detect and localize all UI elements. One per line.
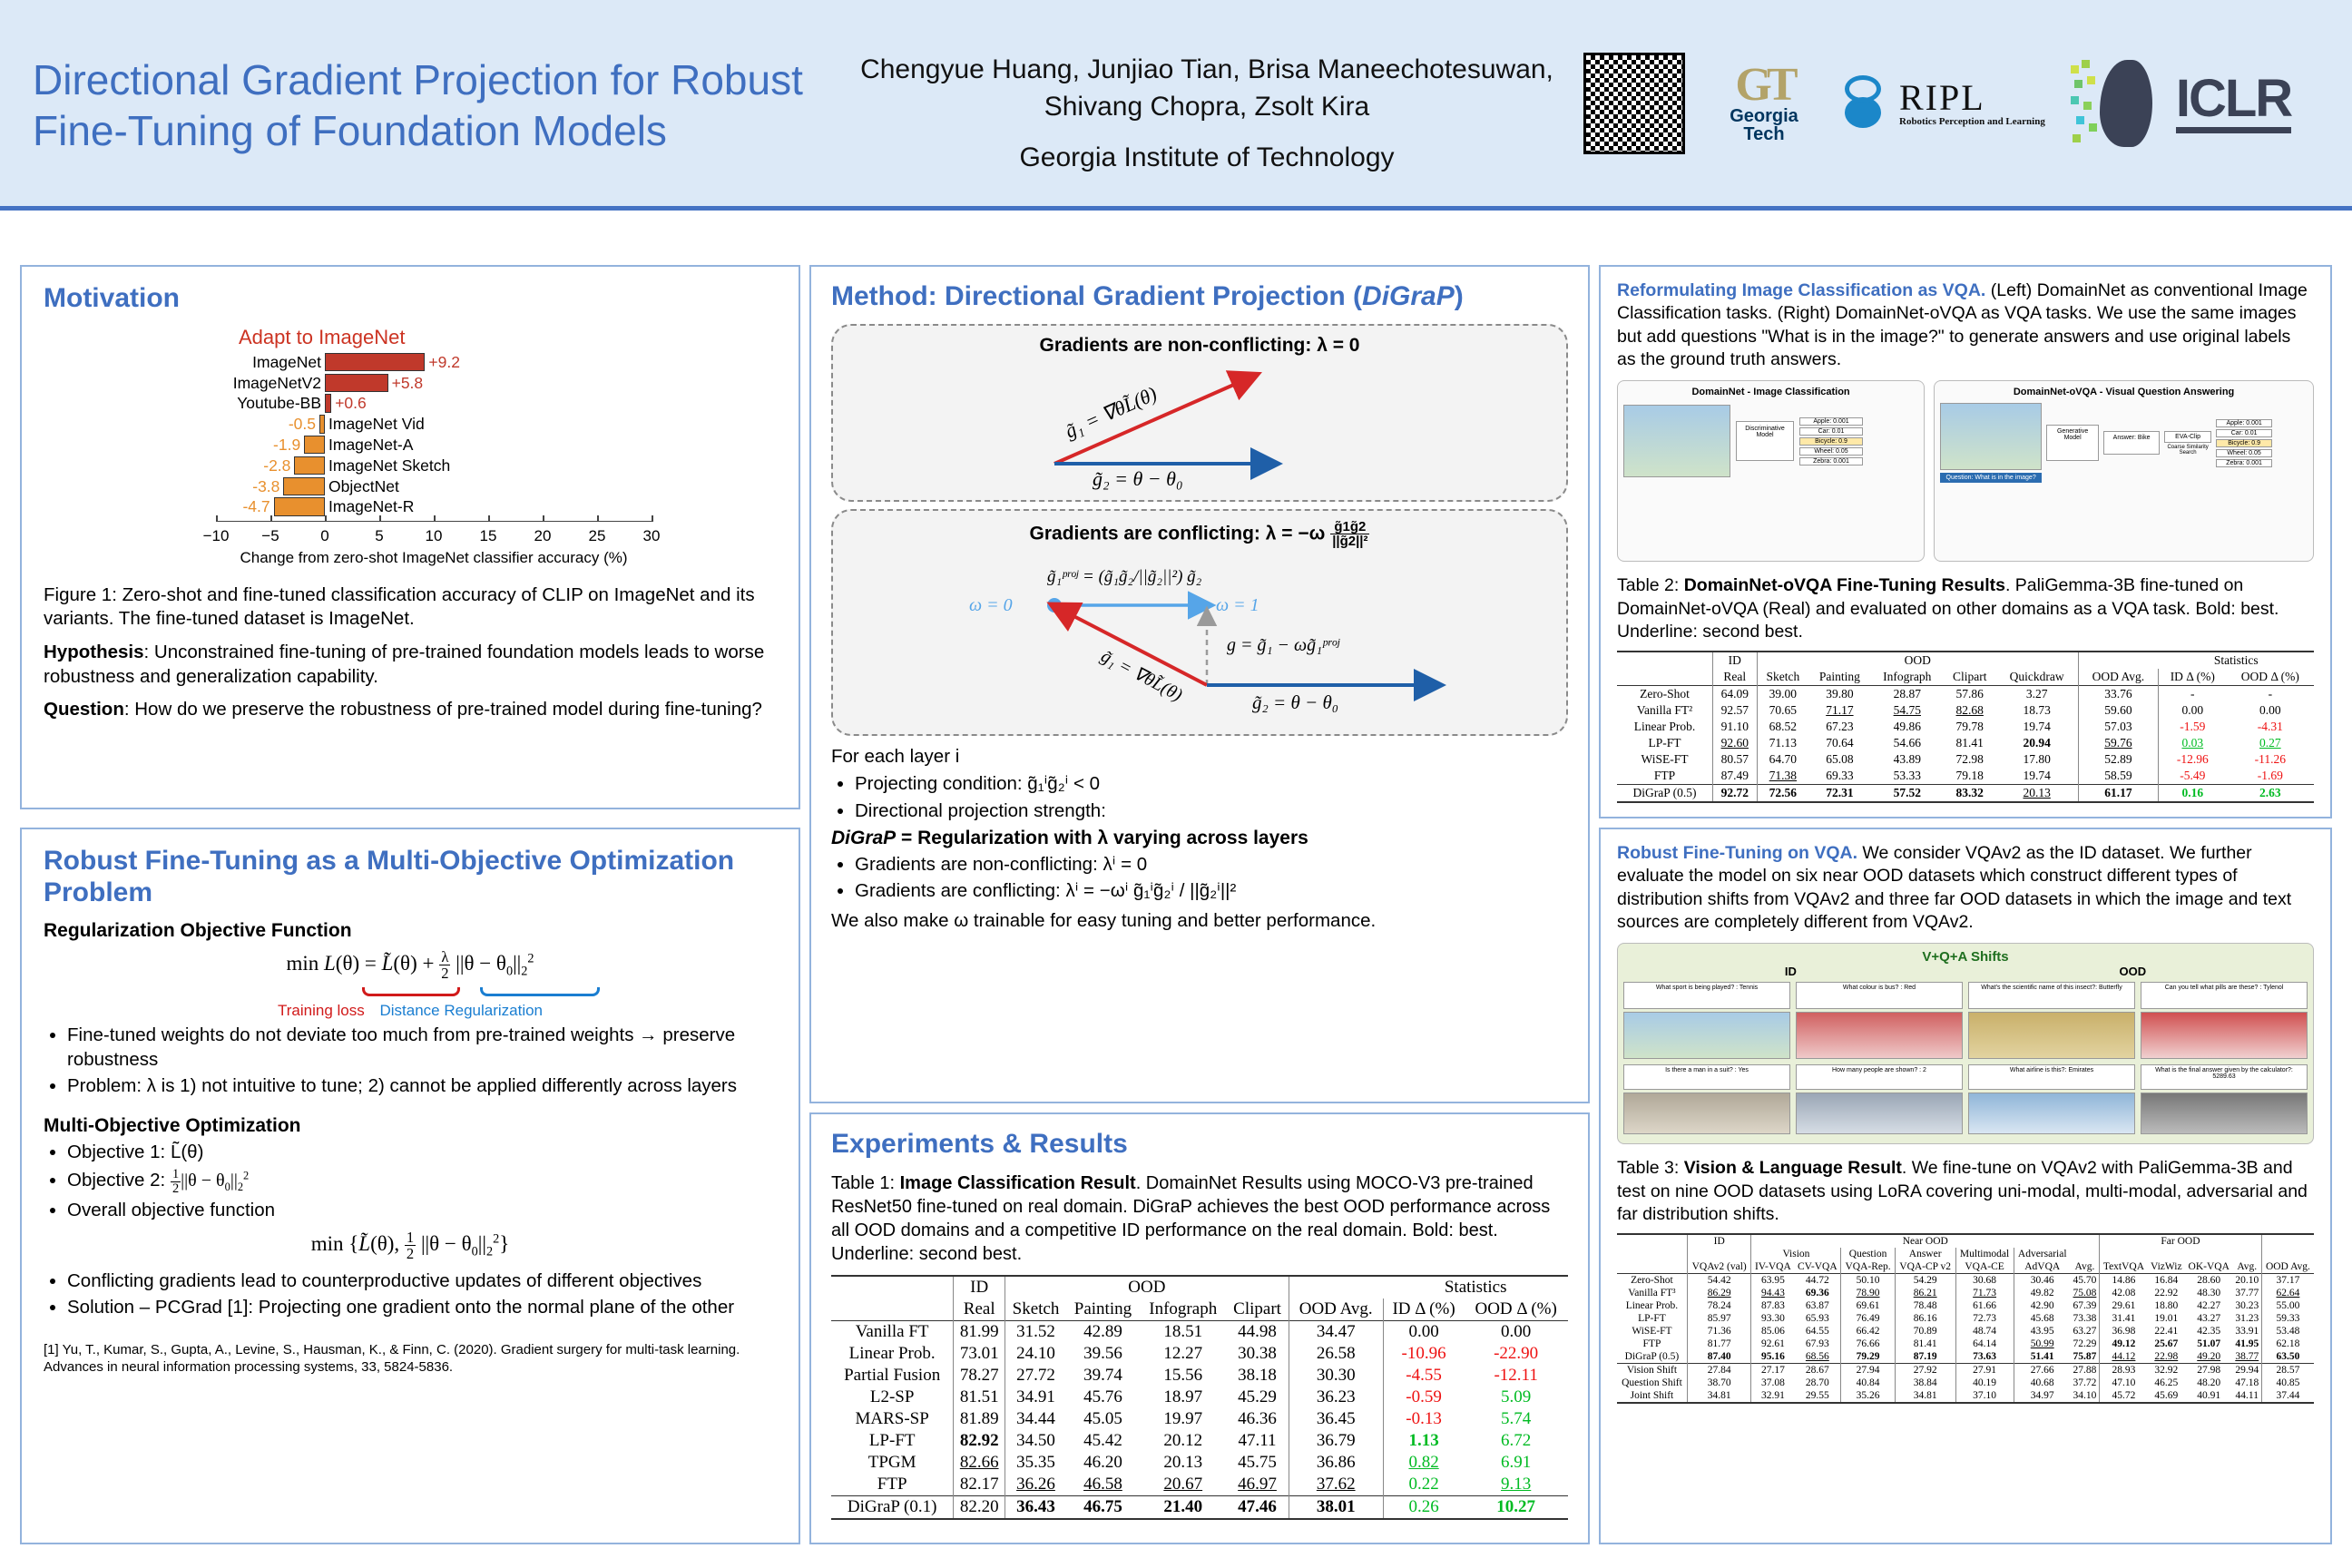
table-cell: 50.10 xyxy=(1841,1274,1895,1288)
table-cell-value: 64.09 xyxy=(1721,687,1749,701)
for-each-layer-text: For each layer i xyxy=(831,745,1568,769)
svg-text:g̃₁ = ∇θL̃(θ): g̃₁ = ∇θL̃(θ) xyxy=(1098,645,1187,706)
table-cell: 72.29 xyxy=(2071,1338,2100,1350)
method-heading: Method: Directional Gradient Projection … xyxy=(831,281,1568,313)
table-cell-value: 38.77 xyxy=(2235,1351,2259,1362)
table-cell-value: 20.13 xyxy=(1163,1453,1202,1472)
table-cell: 22.92 xyxy=(2148,1287,2185,1299)
svg-text:g̃₂ = θ − θ₀: g̃₂ = θ − θ₀ xyxy=(1252,691,1338,713)
method-heading-prefix: Method: Directional Gradient Projection … xyxy=(831,281,1362,311)
table-cell-value: 0.00 xyxy=(2181,703,2203,717)
table-cell: 45.29 xyxy=(1226,1387,1289,1408)
shift-card: Can you tell what pills are these? : Tyl… xyxy=(2141,982,2308,1059)
table1-caption-pre: Table 1: xyxy=(831,1173,900,1193)
table-cell: -12.96 xyxy=(2158,751,2226,768)
left-fig-title: DomainNet - Image Classification xyxy=(1623,387,1918,397)
table-cell: 72.56 xyxy=(1757,785,1808,803)
table-cell: 48.74 xyxy=(1955,1325,2014,1338)
table-cell-value: 34.50 xyxy=(1016,1431,1055,1450)
table-cell: 42.27 xyxy=(2185,1299,2233,1312)
table-cell: 44.12 xyxy=(2100,1350,2148,1364)
table-cell-value: -12.96 xyxy=(2177,752,2209,766)
table-cell: 36.86 xyxy=(1289,1452,1383,1474)
affiliation: Georgia Institute of Technology xyxy=(844,139,1570,176)
table-column-header: VQA-CP v2 xyxy=(1895,1260,1955,1274)
nonconflicting-title: Gradients are non-conflicting: λ = 0 xyxy=(833,326,1566,357)
left-scores: Apple: 0.001 Car: 0.01 Bicycle: 0.9 Whee… xyxy=(1799,417,1863,465)
right-image-column: Question: What is in the image? xyxy=(1940,403,2042,483)
chart-bar-row: ImageNet Vid-0.5 xyxy=(216,415,652,434)
table-cell: 36.45 xyxy=(1289,1408,1383,1430)
table-cell-value: 81.99 xyxy=(960,1322,999,1341)
table-cell-value: 27.94 xyxy=(1857,1365,1880,1376)
table-cell: 48.30 xyxy=(2185,1287,2233,1299)
chart-x-tick-label: 25 xyxy=(589,527,606,545)
table-cell: 33.76 xyxy=(2078,686,2158,703)
method-bullets: Projecting condition: g̃₁ⁱg̃₂ⁱ < 0 Direc… xyxy=(831,772,1568,823)
table-column-header: CV-VQA xyxy=(1794,1260,1841,1274)
table-header-group: IDNear OODFar OOD xyxy=(1617,1234,2314,1248)
table-cell-value: 53.48 xyxy=(2276,1326,2299,1337)
chart-x-label: Change from zero-shot ImageNet classifie… xyxy=(216,549,652,567)
table-cell-value: 52.89 xyxy=(2104,752,2131,766)
table-cell: 29.55 xyxy=(1794,1389,1841,1403)
chart-bar-value: -3.8 xyxy=(252,477,279,496)
table-cell-value: 82.68 xyxy=(1956,703,1984,717)
table-cell-value: 86.21 xyxy=(1914,1288,1937,1298)
table-cell: 69.33 xyxy=(1808,768,1870,785)
table-cell-value: 34.97 xyxy=(2031,1390,2054,1401)
table-cell: 20.67 xyxy=(1140,1474,1226,1496)
table-cell-value: 0.26 xyxy=(1408,1497,1438,1516)
chart-bar-row: ImageNet-R-4.7 xyxy=(216,497,652,516)
table-cell: 35.26 xyxy=(1841,1389,1895,1403)
table-row: Linear Prob.73.0124.1039.5612.2730.3826.… xyxy=(831,1343,1568,1365)
table-cell: 17.80 xyxy=(1995,751,2078,768)
table-row: FTP81.7792.6167.9376.6681.4164.1450.9972… xyxy=(1617,1338,2314,1350)
table-row: Vision Shift27.8427.1728.6727.9427.9227.… xyxy=(1617,1364,2314,1377)
table-row: Partial Fusion78.2727.7239.7415.5638.183… xyxy=(831,1365,1568,1387)
table-cell: 81.41 xyxy=(1895,1338,1955,1350)
table-cell: 32.91 xyxy=(1751,1389,1794,1403)
question-bar: Question: What is in the image? xyxy=(1940,473,2042,483)
table-cell-value: 19.74 xyxy=(2023,720,2050,733)
table-cell: -1.69 xyxy=(2227,768,2314,785)
table-cell: 34.50 xyxy=(1005,1430,1066,1452)
table-cell: 64.09 xyxy=(1713,686,1758,703)
answer-block: Answer: Bike xyxy=(2103,431,2160,455)
table-column-header: TextVQA xyxy=(2100,1260,2148,1274)
table-cell-value: 22.98 xyxy=(2154,1351,2178,1362)
table-cell: 57.03 xyxy=(2078,719,2158,735)
table-cell-value: 51.41 xyxy=(2031,1351,2054,1362)
motivation-heading: Motivation xyxy=(44,283,777,315)
table-cell: 28.67 xyxy=(1794,1364,1841,1377)
table-cell-value: 12.27 xyxy=(1163,1344,1202,1363)
table-cell: 69.61 xyxy=(1841,1299,1895,1312)
table-header: RealSketchPaintingInfographClipartQuickd… xyxy=(1617,669,2314,686)
vqa-reform-figures: DomainNet - Image Classification Discrim… xyxy=(1617,380,2314,562)
table-cell: 79.29 xyxy=(1841,1350,1895,1364)
table-row-label: MARS-SP xyxy=(831,1408,954,1430)
table-cell: 19.74 xyxy=(1995,719,2078,735)
table-cell-value: 75.87 xyxy=(2073,1351,2097,1362)
table-cell-value: 37.44 xyxy=(2276,1390,2299,1401)
table-cell-value: 34.91 xyxy=(1016,1387,1055,1406)
table-cell-value: 27.88 xyxy=(2073,1365,2097,1376)
table-cell: 82.92 xyxy=(954,1430,1005,1452)
table-cell: 6.91 xyxy=(1464,1452,1568,1474)
table-column-header: VQA-Rep. xyxy=(1841,1260,1895,1274)
table-cell: 67.23 xyxy=(1808,719,1870,735)
table-cell-value: 31.52 xyxy=(1016,1322,1055,1341)
table-cell: 63.50 xyxy=(2261,1350,2314,1364)
table-cell-value: 45.42 xyxy=(1083,1431,1122,1450)
table-cell-value: 28.87 xyxy=(1894,687,1921,701)
table-cell-value: 30.30 xyxy=(1317,1366,1356,1385)
table-row-label: Zero-Shot xyxy=(1617,686,1713,703)
shift-card: What's the scientific name of this insec… xyxy=(1968,982,2135,1059)
domainnet-classification-figure: DomainNet - Image Classification Discrim… xyxy=(1617,380,1925,562)
shift-card: Is there a man in a suit? : Yes xyxy=(1623,1064,1790,1134)
table-row: Vanilla FT²92.5770.6571.1754.7582.6818.7… xyxy=(1617,702,2314,719)
table-cell-value: 54.66 xyxy=(1894,736,1921,750)
table-cell-value: -1.69 xyxy=(2258,769,2283,782)
chart-bar-row: ImageNet Sketch-2.8 xyxy=(216,456,652,475)
table-cell: 0.00 xyxy=(2158,702,2226,719)
table-cell-value: 94.43 xyxy=(1761,1288,1785,1298)
table-cell: 36.79 xyxy=(1289,1430,1383,1452)
table-cell-value: 65.08 xyxy=(1826,752,1853,766)
table-cell: 1.13 xyxy=(1383,1430,1464,1452)
domainnet-ovqa-figure: DomainNet-oVQA - Visual Question Answeri… xyxy=(1934,380,2314,562)
table-cell-value: 82.92 xyxy=(960,1431,999,1450)
table-row: WiSE-FT80.5764.7065.0843.8972.9817.8052.… xyxy=(1617,751,2314,768)
table-cell: 76.66 xyxy=(1841,1338,1895,1350)
table-cell-value: 80.57 xyxy=(1721,752,1749,766)
table-cell-value: 25.67 xyxy=(2154,1338,2178,1349)
table-subheader-group: VisionQuestionAnswerMultimodalAdversaria… xyxy=(1617,1248,2314,1260)
table-cell: 57.86 xyxy=(1944,686,1995,703)
table-cell-value: 18.80 xyxy=(2154,1300,2178,1311)
equation-legend: Training loss Distance Regularization xyxy=(44,1002,777,1020)
table-cell: 85.06 xyxy=(1751,1325,1794,1338)
table-cell-value: 37.62 xyxy=(1317,1475,1356,1494)
table-cell-value: 54.42 xyxy=(1708,1275,1731,1286)
table-cell: 76.49 xyxy=(1841,1312,1895,1325)
table-cell: 45.42 xyxy=(1066,1430,1140,1452)
chart-bar xyxy=(319,415,325,434)
table1-caption-bold: Image Classification Result xyxy=(900,1173,1136,1193)
table-column-header: ID Δ (%) xyxy=(1383,1298,1464,1321)
table-cell-value: 42.27 xyxy=(2197,1300,2220,1311)
table-column-header: Infograph xyxy=(1140,1298,1226,1321)
table-cell-value: 93.30 xyxy=(1761,1313,1785,1324)
table-row: Zero-Shot64.0939.0039.8028.8757.863.2733… xyxy=(1617,686,2314,703)
id-label: ID xyxy=(1785,965,1797,978)
chart-bar xyxy=(325,353,425,372)
table-cell: 30.30 xyxy=(1289,1365,1383,1387)
shift-card: What airline is this?: Emirates xyxy=(1968,1064,2135,1134)
table-cell-value: 6.72 xyxy=(1501,1431,1531,1450)
evaclip-block: EVA-Clip xyxy=(2164,431,2211,443)
table-cell-value: 40.68 xyxy=(2031,1377,2054,1388)
table-cell: 61.17 xyxy=(2078,785,2158,803)
chart-bar xyxy=(274,497,325,516)
table-cell-value: 69.61 xyxy=(1857,1300,1880,1311)
col-group-question: Question xyxy=(1841,1248,1895,1260)
table-cell: 52.89 xyxy=(2078,751,2158,768)
poster-root: Directional Gradient Projection for Robu… xyxy=(0,0,2352,1568)
table-cell: 39.74 xyxy=(1066,1365,1140,1387)
table-cell: 27.94 xyxy=(1841,1364,1895,1377)
table-cell-value: 92.72 xyxy=(1721,786,1749,799)
table-cell-value: 0.16 xyxy=(2181,786,2203,799)
table-cell: 14.86 xyxy=(2100,1274,2148,1288)
table-cell: 34.81 xyxy=(1895,1389,1955,1403)
table-cell: 81.99 xyxy=(954,1320,1005,1343)
table-cell-value: 85.97 xyxy=(1708,1313,1731,1324)
table-cell: 44.72 xyxy=(1794,1274,1841,1288)
table-cell-value: 27.72 xyxy=(1016,1366,1055,1385)
chart-x-tick-label: 15 xyxy=(480,527,497,545)
table3-caption: Table 3: Vision & Language Result. We fi… xyxy=(1617,1157,2314,1226)
table-cell-value: 18.97 xyxy=(1163,1387,1202,1406)
table-cell-value: 59.60 xyxy=(2104,703,2131,717)
table-cell: -22.90 xyxy=(1464,1343,1568,1365)
chart-bar-value: -1.9 xyxy=(273,436,300,455)
table-cell-value: 38.18 xyxy=(1238,1366,1277,1385)
table-row: TPGM82.6635.3546.2020.1345.7536.860.826.… xyxy=(831,1452,1568,1474)
table3-caption-bold: Vision & Language Result xyxy=(1684,1158,1902,1178)
table-cell-value: 54.29 xyxy=(1914,1275,1937,1286)
table-cell-value: 36.23 xyxy=(1317,1387,1356,1406)
table-cell-value: 47.18 xyxy=(2235,1377,2259,1388)
chart-x-tick xyxy=(270,515,272,522)
method-closing-text: We also make ω trainable for easy tuning… xyxy=(831,909,1568,934)
table-cell-value: 62.64 xyxy=(2276,1288,2299,1298)
chart-bar-row: ImageNet-A-1.9 xyxy=(216,436,652,455)
table-cell-value: 33.91 xyxy=(2235,1326,2259,1337)
table-cell: 54.29 xyxy=(1895,1274,1955,1288)
table-cell-value: 31.41 xyxy=(2112,1313,2136,1324)
table-cell-value: 92.61 xyxy=(1761,1338,1785,1349)
mo-objectives: Objective 1: L̃(θ) Objective 2: 12||θ − … xyxy=(44,1141,777,1222)
chart-x-tick-label: 0 xyxy=(320,527,328,545)
table-cell: 35.35 xyxy=(1005,1452,1066,1474)
reference-text: [1] Yu, T., Kumar, S., Gupta, A., Levine… xyxy=(44,1342,777,1377)
table-column-header: Clipart xyxy=(1226,1298,1289,1321)
table-cell: 31.52 xyxy=(1005,1320,1066,1343)
table-cell: 31.23 xyxy=(2233,1312,2262,1325)
chart-bar xyxy=(294,456,325,475)
table-cell: 37.10 xyxy=(1955,1389,2014,1403)
table-cell: 37.72 xyxy=(2071,1377,2100,1389)
table-cell: 86.21 xyxy=(1895,1287,1955,1299)
table-cell: 45.70 xyxy=(2071,1274,2100,1288)
motivation-panel: Motivation Adapt to ImageNet ImageNet+9.… xyxy=(20,265,800,809)
svg-text:g̃₂ = θ − θ₀: g̃₂ = θ − θ₀ xyxy=(1093,467,1183,490)
table-cell-value: 29.61 xyxy=(2112,1300,2136,1311)
table-row: Vanilla FT³86.2994.4369.3678.9086.2171.7… xyxy=(1617,1287,2314,1299)
table-cell: 64.14 xyxy=(1955,1338,2014,1350)
table-cell: 83.32 xyxy=(1944,785,1995,803)
table-cell-value: 28.57 xyxy=(2276,1365,2299,1376)
table-cell-value: 26.58 xyxy=(1317,1344,1356,1363)
experiments-panel: Experiments & Results Table 1: Image Cla… xyxy=(809,1112,1590,1544)
mo-subheading: Multi-Objective Optimization xyxy=(44,1115,777,1137)
table-cell: -11.26 xyxy=(2227,751,2314,768)
table-cell: 0.03 xyxy=(2158,735,2226,751)
table-cell: 71.38 xyxy=(1757,768,1808,785)
table-cell: -0.13 xyxy=(1383,1408,1464,1430)
distance-reg-tag: Distance Regularization xyxy=(379,1002,543,1019)
chart-x-tick xyxy=(488,515,490,522)
table-header: RealSketchPaintingInfographClipartOOD Av… xyxy=(831,1298,1568,1321)
table-row: Question Shift38.7037.0828.7040.8438.844… xyxy=(1617,1377,2314,1389)
table-cell-value: 76.49 xyxy=(1857,1313,1880,1324)
table-cell: 47.46 xyxy=(1226,1495,1289,1519)
chart-bar xyxy=(304,436,325,455)
table-cell-value: 87.49 xyxy=(1721,769,1749,782)
table-cell: 28.70 xyxy=(1794,1377,1841,1389)
col-group-answer: Answer xyxy=(1895,1248,1955,1260)
table-cell: 57.52 xyxy=(1871,785,1944,803)
table-cell-value: 68.56 xyxy=(1806,1351,1829,1362)
conflicting-frac-num: g̃1g̃2 xyxy=(1330,520,1369,535)
table-cell: 59.76 xyxy=(2078,735,2158,751)
table-cell: 34.97 xyxy=(2014,1389,2071,1403)
table-cell-value: 43.27 xyxy=(2197,1313,2220,1324)
table-cell: 75.08 xyxy=(2071,1287,2100,1299)
table-cell-value: 0.27 xyxy=(2259,736,2281,750)
table-cell-value: 34.10 xyxy=(2073,1390,2097,1401)
table-column-header: IV-VQA xyxy=(1751,1260,1794,1274)
table-cell: 92.57 xyxy=(1713,702,1758,719)
table-column-header: Quickdraw xyxy=(1995,669,2078,686)
table-cell: 41.95 xyxy=(2233,1338,2262,1350)
table-cell: 67.39 xyxy=(2071,1299,2100,1312)
table-cell-value: 27.92 xyxy=(1914,1365,1937,1376)
shift-card: What is the final answer given by the ca… xyxy=(2141,1064,2308,1134)
table-row-label: Partial Fusion xyxy=(831,1365,954,1387)
table-cell: 51.41 xyxy=(2014,1350,2071,1364)
table-cell: 54.66 xyxy=(1871,735,1944,751)
table-cell-value: 10.27 xyxy=(1496,1497,1535,1516)
table-header-group: IDOODStatistics xyxy=(831,1276,1568,1298)
table-cell: 72.98 xyxy=(1944,751,1995,768)
table-row-label: Vanilla FT² xyxy=(1617,702,1713,719)
table-cell: 71.73 xyxy=(1955,1287,2014,1299)
table-cell: 6.72 xyxy=(1464,1430,1568,1452)
table-cell-value: 20.13 xyxy=(2023,786,2050,799)
table-cell: -10.96 xyxy=(1383,1343,1464,1365)
vqa-shift-figure: V+Q+A Shifts ID OOD What sport is being … xyxy=(1617,943,2314,1144)
table-cell-value: 34.81 xyxy=(1914,1390,1937,1401)
table-cell: 64.55 xyxy=(1794,1325,1841,1338)
table-cell-value: 58.59 xyxy=(2104,769,2131,782)
table-cell-value: 57.86 xyxy=(1956,687,1984,701)
table-cell-value: 5.74 xyxy=(1501,1409,1531,1428)
table-cell: 59.60 xyxy=(2078,702,2158,719)
qr-code-icon[interactable] xyxy=(1583,53,1685,154)
table-cell: 92.61 xyxy=(1751,1338,1794,1350)
table-cell-value: 63.87 xyxy=(1806,1300,1829,1311)
table-cell: 27.66 xyxy=(2014,1364,2071,1377)
table-cell-value: 67.23 xyxy=(1826,720,1853,733)
table-cell: 37.44 xyxy=(2261,1389,2314,1403)
bicycle-photo-2 xyxy=(1940,403,2042,470)
table-row: DiGraP (0.1)82.2036.4346.7521.4047.4638.… xyxy=(831,1495,1568,1519)
table-cell-value: 83.32 xyxy=(1956,786,1984,799)
table-cell-value: 78.48 xyxy=(1914,1300,1937,1311)
table-column-header: VQAv2 (val) xyxy=(1687,1260,1751,1274)
list-item: Objective 1: L̃(θ) xyxy=(67,1141,777,1165)
table-cell-value: 46.25 xyxy=(2154,1377,2178,1388)
table-cell: 36.23 xyxy=(1289,1387,1383,1408)
table-cell-value: 32.91 xyxy=(1761,1390,1785,1401)
table-cell-value: 1.13 xyxy=(1408,1431,1438,1450)
chart-x-tick-label: 10 xyxy=(426,527,443,545)
shift-card-grid: What sport is being played? : Tennis Wha… xyxy=(1623,982,2308,1134)
mo-bullets2: Conflicting gradients lead to counterpro… xyxy=(44,1269,777,1320)
table-cell: 81.41 xyxy=(1944,735,1995,751)
table-cell: 40.91 xyxy=(2185,1389,2233,1403)
table-column-header: VQA-CE xyxy=(1955,1260,2014,1274)
svg-text:ω = 0: ω = 0 xyxy=(969,595,1013,615)
table-column-header: Sketch xyxy=(1005,1298,1066,1321)
shift-figure-labels: ID OOD xyxy=(1623,965,2308,978)
table-cell: 73.38 xyxy=(2071,1312,2100,1325)
table-cell-value: 64.14 xyxy=(1973,1338,1996,1349)
table-cell: 44.98 xyxy=(1226,1320,1289,1343)
table-cell: 54.42 xyxy=(1687,1274,1751,1288)
table-column-header: OOD Avg. xyxy=(1289,1298,1383,1321)
table-cell: 25.67 xyxy=(2148,1338,2185,1350)
table2-caption: Table 2: DomainNet-oVQA Fine-Tuning Resu… xyxy=(1617,574,2314,643)
table-cell: 82.17 xyxy=(954,1474,1005,1496)
table-cell-value: 21.40 xyxy=(1163,1497,1202,1516)
table-cell: 34.91 xyxy=(1005,1387,1066,1408)
table-cell-value: 20.94 xyxy=(2023,736,2050,750)
table-cell-value: 72.98 xyxy=(1956,752,1984,766)
table-cell: 29.94 xyxy=(2233,1364,2262,1377)
table-cell: 16.84 xyxy=(2148,1274,2185,1288)
chart-bar-value: -4.7 xyxy=(242,497,269,516)
table-cell: 19.01 xyxy=(2148,1312,2185,1325)
table-cell: 87.83 xyxy=(1751,1299,1794,1312)
table-row: Joint Shift34.8132.9129.5535.2634.8137.1… xyxy=(1617,1389,2314,1403)
table-cell-value: 49.12 xyxy=(2112,1338,2136,1349)
table-cell-value: 22.92 xyxy=(2154,1288,2178,1298)
table-cell-value: 9.13 xyxy=(1501,1475,1531,1494)
table-cell: 85.97 xyxy=(1687,1312,1751,1325)
table-cell: 27.92 xyxy=(1895,1364,1955,1377)
table-cell-value: 61.17 xyxy=(2104,786,2131,799)
table-cell-value: 55.00 xyxy=(2276,1300,2299,1311)
chart-bar xyxy=(283,477,325,496)
table-cell: 73.63 xyxy=(1955,1350,2014,1364)
table-cell-value: 42.90 xyxy=(2031,1300,2054,1311)
table-row-label: Joint Shift xyxy=(1617,1389,1687,1403)
col-group-near-ood: Near OOD xyxy=(1751,1234,2100,1248)
chart-bar-value: +9.2 xyxy=(428,353,460,372)
table-cell: 18.80 xyxy=(2148,1299,2185,1312)
chart-bar-value: -2.8 xyxy=(263,456,290,475)
table-cell-value: 30.38 xyxy=(1238,1344,1277,1363)
table-cell-value: -4.55 xyxy=(1406,1366,1442,1385)
table-column-header: Real xyxy=(1713,669,1758,686)
